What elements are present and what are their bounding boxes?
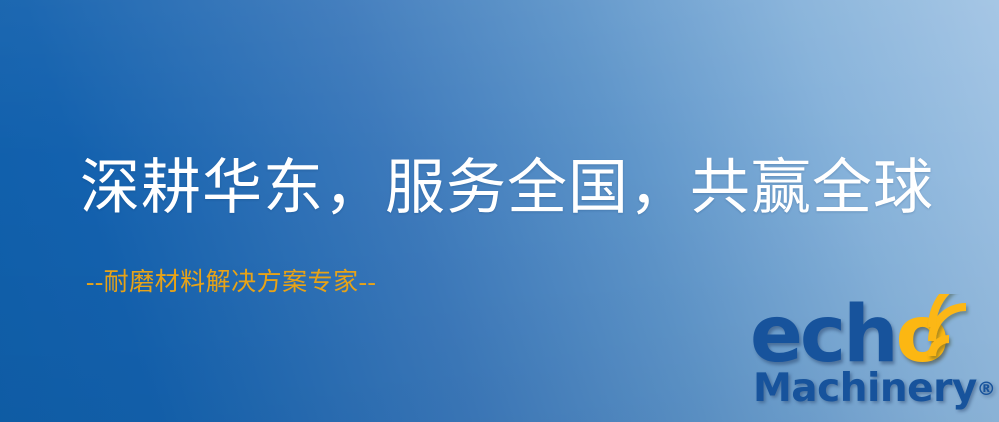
signal-waves-icon [926,294,999,360]
registered-trademark-icon: ® [977,378,996,400]
hero-banner: 深耕华东，服务全国，共赢全球 --耐磨材料解决方案专家-- echo Machi… [0,0,999,422]
company-logo[interactable]: echo Machinery® [748,296,999,422]
logo-wordmark: echo [750,296,946,374]
logo-subtext-label: Machinery [753,366,977,411]
logo-subtext: Machinery® [753,368,996,410]
banner-subtitle: --耐磨材料解决方案专家-- [86,268,376,298]
banner-headline: 深耕华东，服务全国，共赢全球 [80,155,934,221]
